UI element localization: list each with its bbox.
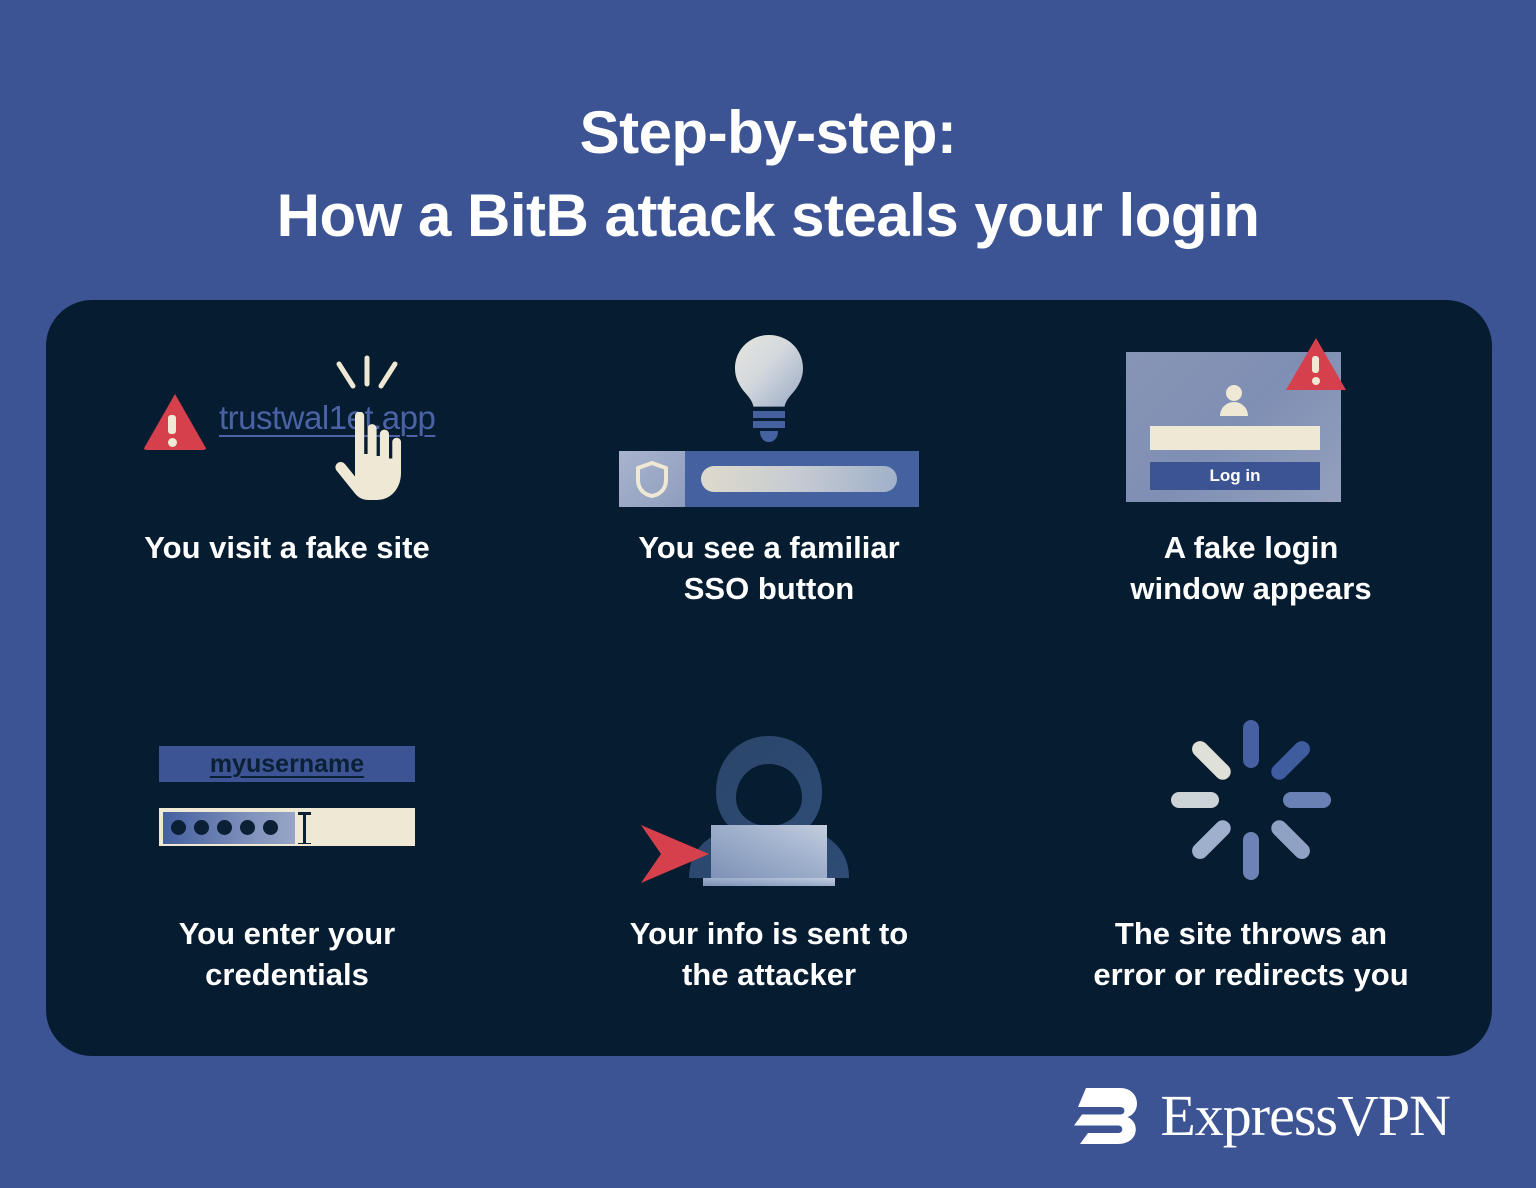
step-2-caption: You see a familiar SSO button [638,528,899,610]
username-value: myusername [210,750,364,779]
brand-name: ExpressVPN [1160,1087,1450,1145]
step-1-cell: trustwal1et.app You vi [46,300,528,678]
warning-exclamation-dot-icon [1312,377,1320,385]
password-masked-dots [171,820,278,835]
warning-exclamation-bar-icon [168,415,176,434]
username-field[interactable]: myusername [159,746,415,782]
step-6-illustration [1010,700,1492,900]
fake-username-input[interactable] [1150,426,1320,450]
infographic-page: Step-by-step: How a BitB attack steals y… [0,0,1536,1188]
step-4-cell: myusername [46,678,528,1056]
sso-button-icon[interactable] [619,451,919,507]
step-4-caption: You enter your credentials [179,914,395,996]
step-6-cell: The site throws an error or redirects yo… [1010,678,1492,1056]
step-5-caption: Your info is sent to the attacker [630,914,908,996]
sso-shield-section [619,451,685,507]
expressvpn-logo-icon [1066,1084,1140,1148]
shield-icon [635,460,669,498]
page-title: Step-by-step: How a BitB attack steals y… [0,92,1536,258]
step-3-caption: A fake login window appears [1130,528,1371,610]
password-field[interactable] [159,808,415,846]
step-3-cell: Log in A fake login window appears [1010,300,1492,678]
step-5-cell: Your info is sent to the attacker [528,678,1010,1056]
steps-card: trustwal1et.app You vi [46,300,1492,1056]
step-2-illustration [528,322,1010,522]
fake-login-button[interactable]: Log in [1150,462,1320,490]
step-1-illustration: trustwal1et.app [46,322,528,522]
user-avatar-icon [1218,384,1250,416]
loading-spinner-icon [1163,712,1339,888]
hooded-attacker-icon [619,712,919,888]
step-3-illustration: Log in [1010,322,1492,522]
steps-grid: trustwal1et.app You vi [46,300,1492,1056]
step-6-caption: The site throws an error or redirects yo… [1093,914,1408,996]
text-caret-icon [297,810,311,846]
warning-exclamation-bar-icon [1312,356,1319,373]
pointing-hand-cursor-icon [333,412,401,500]
step-4-illustration: myusername [46,700,528,900]
lightbulb-icon [727,333,811,445]
title-line-2: How a BitB attack steals your login [0,175,1536,258]
sso-label-placeholder [701,466,897,492]
step-1-caption: You visit a fake site [144,528,429,569]
warning-exclamation-dot-icon [168,438,177,447]
title-line-1: Step-by-step: [0,92,1536,175]
step-5-illustration [528,700,1010,900]
sso-label-section [685,451,919,507]
step-2-cell: You see a familiar SSO button [528,300,1010,678]
click-burst-icon [331,354,403,406]
expressvpn-logo: ExpressVPN [1066,1084,1450,1148]
